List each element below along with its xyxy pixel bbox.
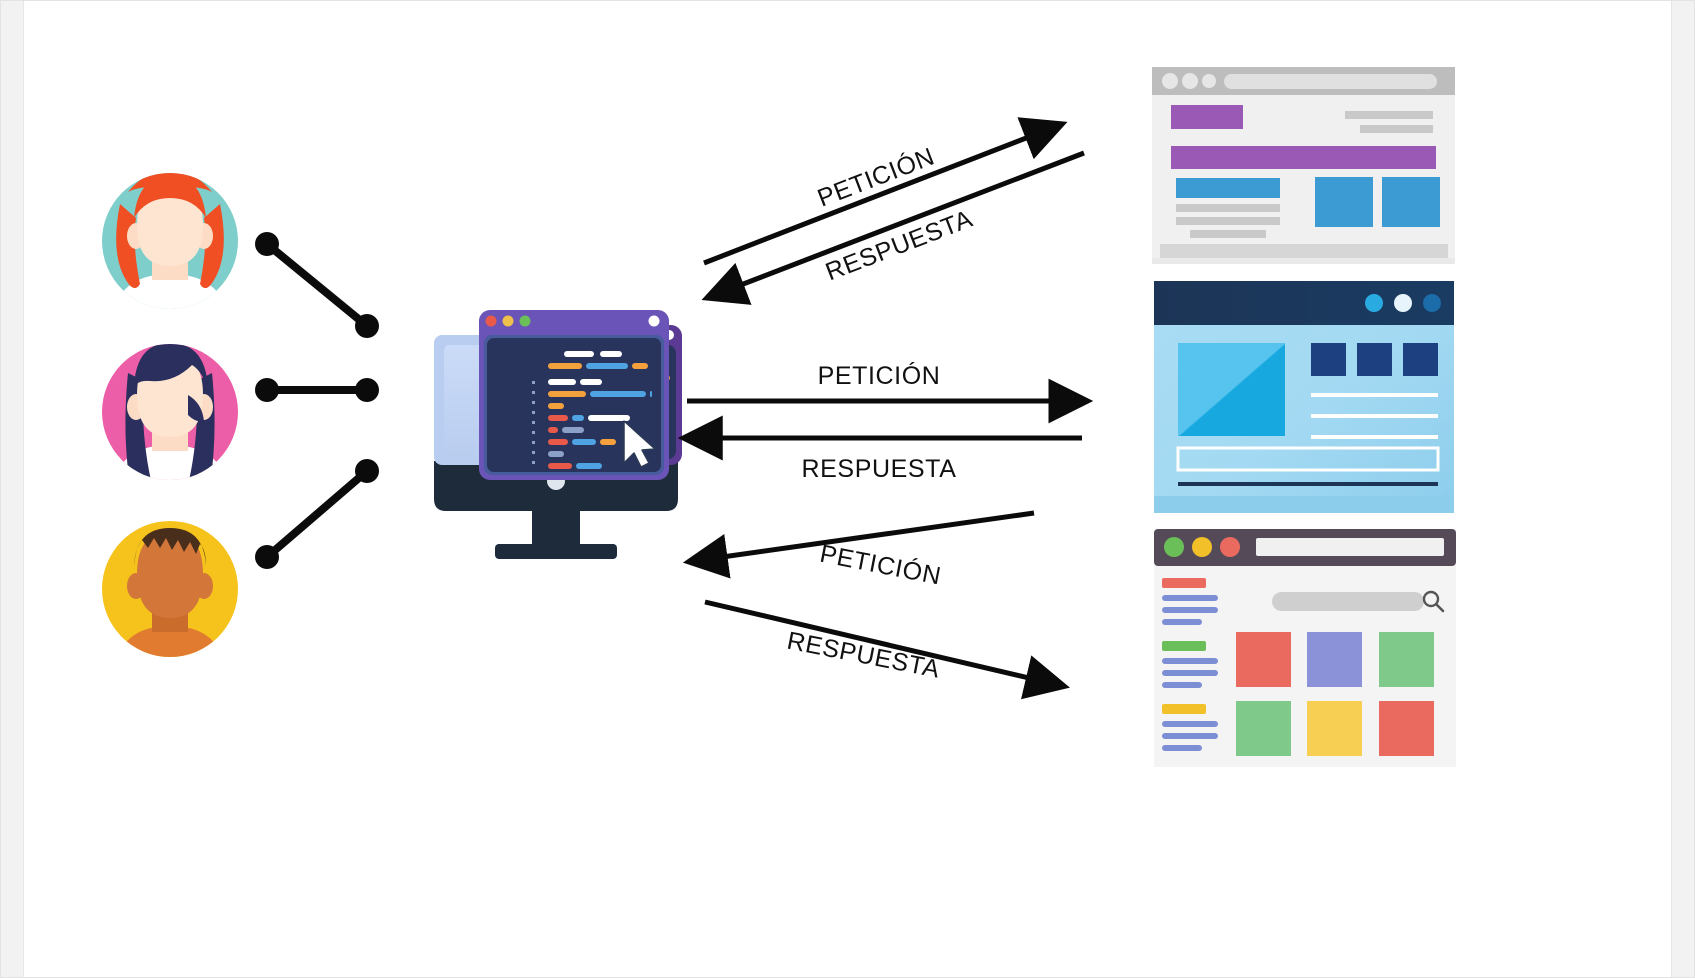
- code-window-front: [479, 310, 669, 480]
- connector-top: [255, 232, 379, 338]
- diagram-svg: PETICIÓN RESPUESTA PETICIÓN RESPUESTA PE…: [24, 1, 1673, 978]
- tile-1: [1311, 343, 1346, 376]
- label-peticion-bottom: PETICIÓN: [818, 539, 944, 591]
- window-dot-1: [1162, 73, 1178, 89]
- label-respuesta-bottom: RESPUESTA: [785, 627, 942, 684]
- footer-bar: [1160, 244, 1448, 258]
- tile-3: [1403, 343, 1438, 376]
- diagram-canvas: PETICIÓN RESPUESTA PETICIÓN RESPUESTA PE…: [24, 1, 1671, 977]
- window-dot-3: [1423, 294, 1441, 312]
- connector-bottom: [255, 459, 379, 569]
- browser-window-grey[interactable]: [1152, 67, 1455, 264]
- label-respuesta-middle: RESPUESTA: [802, 455, 957, 483]
- avatar-dark-hair-woman[interactable]: [102, 343, 238, 485]
- flow-top: PETICIÓN RESPUESTA: [704, 126, 1084, 296]
- flow-middle: PETICIÓN RESPUESTA: [687, 361, 1082, 483]
- window-dot-3: [1220, 537, 1240, 557]
- hero-image: [1178, 343, 1285, 436]
- card-6: [1379, 701, 1434, 756]
- window-dot-1: [1365, 294, 1383, 312]
- browser-window-blue[interactable]: [1154, 281, 1454, 513]
- label-peticion-middle: PETICIÓN: [818, 361, 941, 390]
- search-pill: [1272, 592, 1424, 611]
- window-dot-3: [1202, 74, 1216, 88]
- card-2: [1307, 632, 1362, 687]
- window-dot-2: [1394, 294, 1412, 312]
- avatar-red-hair-woman[interactable]: [102, 170, 238, 314]
- diagram-root: PETICIÓN RESPUESTA PETICIÓN RESPUESTA PE…: [0, 0, 1695, 978]
- url-bar: [1224, 74, 1437, 89]
- browser-window-cards[interactable]: [1154, 529, 1456, 767]
- card-3: [1379, 632, 1434, 687]
- tile-2: [1357, 343, 1392, 376]
- avatar-short-hair-man[interactable]: [102, 521, 238, 664]
- server-monitor[interactable]: [434, 310, 682, 559]
- logo-block: [1171, 105, 1243, 129]
- connector-middle: [255, 378, 379, 402]
- window-dot-2: [1192, 537, 1212, 557]
- card-5: [1307, 701, 1362, 756]
- card-1: [1236, 632, 1291, 687]
- url-bar: [1256, 538, 1444, 556]
- window-dot-1: [1164, 537, 1184, 557]
- nav-bar: [1171, 146, 1436, 169]
- card-4: [1236, 701, 1291, 756]
- window-dot-2: [1182, 73, 1198, 89]
- flow-bottom: PETICIÓN RESPUESTA: [694, 513, 1059, 685]
